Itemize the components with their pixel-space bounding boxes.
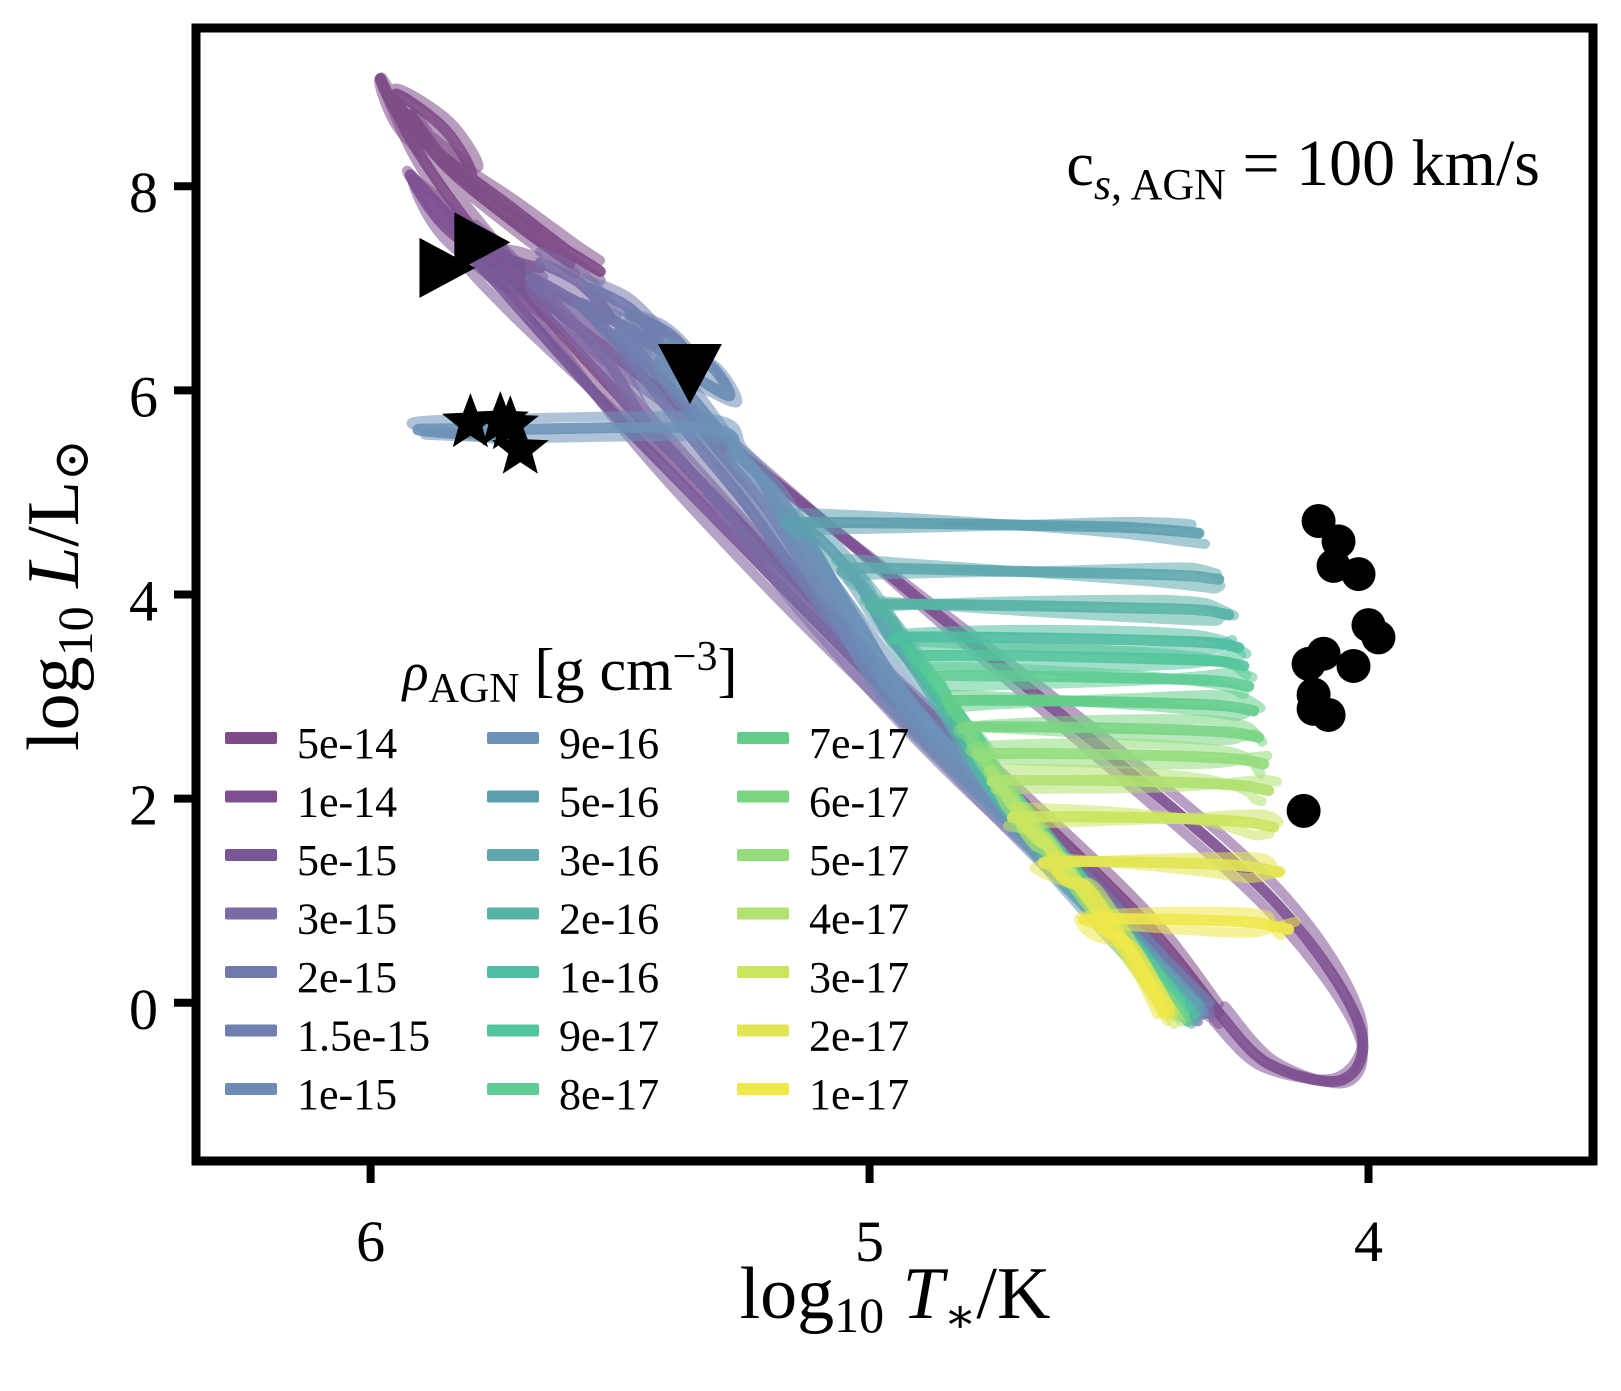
legend-swatch (487, 1083, 539, 1095)
legend-label: 5e-17 (809, 836, 909, 885)
legend-label: 9e-17 (559, 1012, 659, 1061)
legend-label: 1e-14 (297, 778, 397, 827)
figure-canvas: 65402468 log10 T∗/K log10 L/L⊙ cs, AGN =… (0, 0, 1621, 1391)
x-tick-label: 6 (356, 1209, 385, 1274)
legend-swatch (487, 732, 539, 744)
legend-swatch (487, 849, 539, 861)
legend-label: 9e-16 (559, 719, 659, 768)
legend-label: 5e-16 (559, 778, 659, 827)
legend-label: 8e-17 (559, 1070, 659, 1119)
x-tick-label: 4 (1354, 1209, 1383, 1274)
legend-label: 1e-17 (809, 1070, 909, 1119)
legend-label: 2e-15 (297, 953, 397, 1002)
legend-label: 3e-16 (559, 836, 659, 885)
legend-label: 7e-17 (809, 719, 909, 768)
legend-swatch (225, 849, 277, 861)
data-marker-circle (1337, 649, 1371, 683)
x-axis-label: log10 T∗/K (740, 1253, 1051, 1343)
legend-label: 6e-17 (809, 778, 909, 827)
data-marker-circle (1292, 647, 1326, 681)
legend-label: 1e-16 (559, 953, 659, 1002)
legend-label: 3e-17 (809, 953, 909, 1002)
legend-swatch (225, 908, 277, 920)
legend-swatch (737, 791, 789, 803)
legend-label: 2e-17 (809, 1012, 909, 1061)
legend-swatch (487, 791, 539, 803)
data-marker-circle (1312, 698, 1346, 732)
legend-swatch (737, 732, 789, 744)
y-axis-label: log10 L/L⊙ (13, 439, 103, 751)
legend-swatch (487, 1025, 539, 1037)
legend-swatch (737, 1083, 789, 1095)
y-tick-label: 8 (129, 160, 158, 225)
legend-label: 1e-15 (297, 1070, 397, 1119)
legend-swatch (225, 1083, 277, 1095)
legend-swatch (737, 849, 789, 861)
legend-swatch (487, 966, 539, 978)
figure-background (0, 0, 1621, 1391)
legend-label: 5e-14 (297, 719, 397, 768)
legend-label: 4e-17 (809, 895, 909, 944)
y-tick-label: 4 (129, 569, 158, 634)
legend-swatch (225, 791, 277, 803)
legend-swatch (225, 1025, 277, 1037)
legend-swatch (225, 732, 277, 744)
data-marker-circle (1287, 794, 1321, 828)
legend-swatch (737, 966, 789, 978)
data-marker-circle (1342, 557, 1376, 591)
legend-label: 1.5e-15 (297, 1012, 430, 1061)
y-tick-label: 2 (129, 773, 158, 838)
legend-label: 3e-15 (297, 895, 397, 944)
y-tick-label: 0 (129, 977, 158, 1042)
x-tick-label: 5 (855, 1209, 884, 1274)
legend-swatch (737, 1025, 789, 1037)
legend-swatch (487, 908, 539, 920)
y-tick-label: 6 (129, 364, 158, 429)
legend-label: 5e-15 (297, 836, 397, 885)
data-marker-circle (1361, 620, 1395, 654)
legend-swatch (225, 966, 277, 978)
legend-label: 2e-16 (559, 895, 659, 944)
legend-swatch (737, 908, 789, 920)
hr-diagram-plot: 65402468 log10 T∗/K log10 L/L⊙ cs, AGN =… (0, 0, 1621, 1391)
